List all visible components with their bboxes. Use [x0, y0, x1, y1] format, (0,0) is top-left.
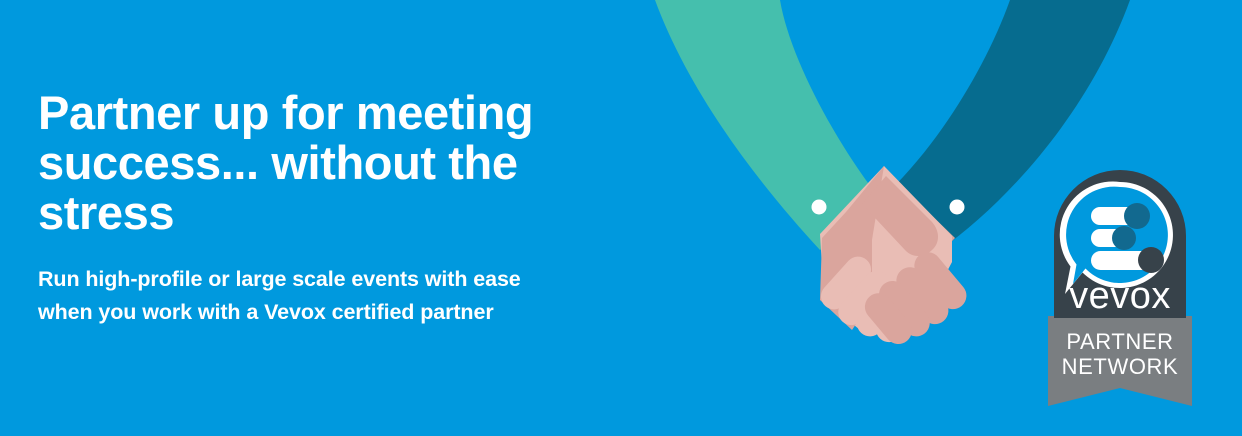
vevox-wordmark: vevox [1069, 275, 1171, 317]
badge-ribbon-line-1: PARTNER [1066, 329, 1173, 354]
badge-ribbon-line-2: NETWORK [1062, 354, 1179, 379]
page-title: Partner up for meeting success... withou… [38, 88, 658, 237]
right-cufflink-dot [950, 200, 965, 215]
banner-text-block: Partner up for meeting success... withou… [38, 88, 658, 329]
hero-banner: Partner up for meeting success... withou… [0, 0, 1242, 436]
logo-dot-2 [1112, 226, 1136, 250]
banner-subtitle: Run high-profile or large scale events w… [38, 237, 658, 328]
logo-dot-3 [1138, 247, 1164, 273]
logo-dot-1 [1124, 203, 1150, 229]
left-cufflink-dot [812, 200, 827, 215]
vevox-partner-network-badge: vevox PARTNER NETWORK [1040, 166, 1200, 410]
